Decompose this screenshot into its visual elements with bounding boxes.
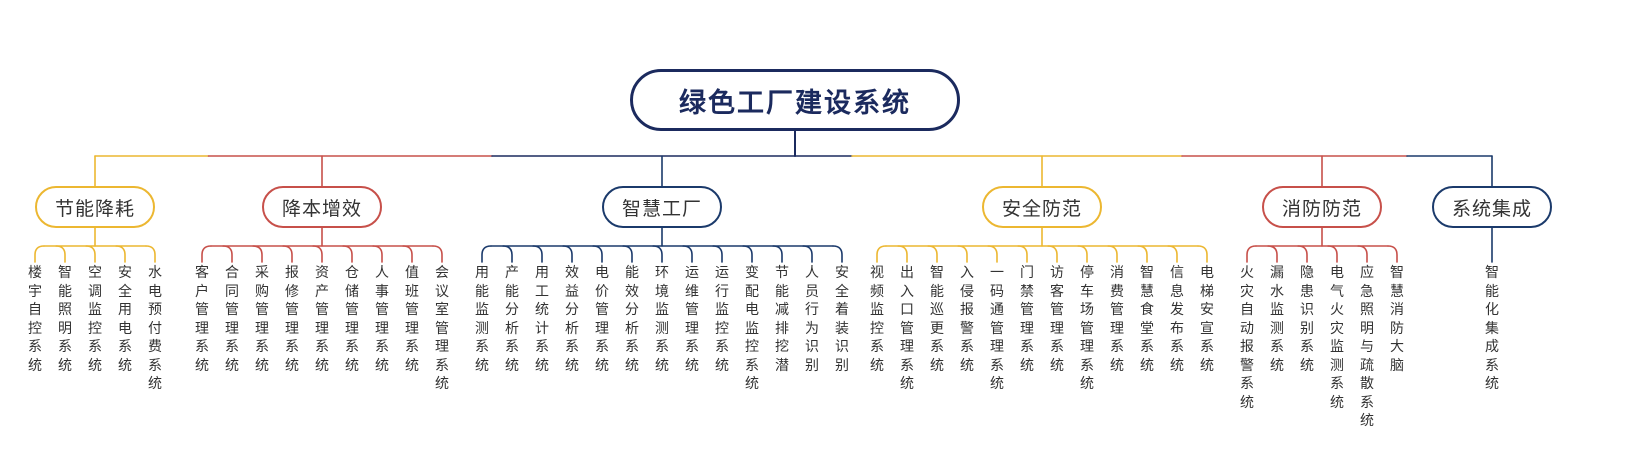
leaf-node[interactable]: 运维管理系统	[683, 264, 701, 375]
branch-node[interactable]: 系统集成	[1432, 186, 1552, 228]
branch-node-label: 智慧工厂	[622, 194, 702, 221]
leaf-node[interactable]: 出入口管理系统	[898, 264, 916, 394]
leaf-node[interactable]: 会议室管理系统	[433, 264, 451, 394]
leaf-node[interactable]: 信息发布系统	[1168, 264, 1186, 375]
leaf-node[interactable]: 水电预付费系统	[146, 264, 164, 394]
branch-node-label: 安全防范	[1002, 194, 1082, 221]
root-node-label: 绿色工厂建设系统	[679, 81, 911, 120]
leaf-node[interactable]: 访客管理系统	[1048, 264, 1066, 375]
leaf-node[interactable]: 人事管理系统	[373, 264, 391, 375]
leaf-node[interactable]: 隐患识别系统	[1298, 264, 1316, 375]
branch-node-label: 系统集成	[1452, 194, 1532, 221]
leaf-node[interactable]: 产能分析系统	[503, 264, 521, 375]
leaf-node[interactable]: 用能监测系统	[473, 264, 491, 375]
leaf-node[interactable]: 智慧消防大脑	[1388, 264, 1406, 375]
leaf-node[interactable]: 安全着装识别	[833, 264, 851, 375]
leaf-node[interactable]: 门禁管理系统	[1018, 264, 1036, 375]
leaf-node[interactable]: 采购管理系统	[253, 264, 271, 375]
leaf-node[interactable]: 用工统计系统	[533, 264, 551, 375]
branch-node[interactable]: 安全防范	[982, 186, 1102, 228]
leaf-node[interactable]: 合同管理系统	[223, 264, 241, 375]
leaf-node[interactable]: 楼宇自控系统	[26, 264, 44, 375]
leaf-node[interactable]: 电气火灾监测系统	[1328, 264, 1346, 412]
leaf-node[interactable]: 入侵报警系统	[958, 264, 976, 375]
leaf-node[interactable]: 消费管理系统	[1108, 264, 1126, 375]
leaf-node[interactable]: 停车场管理系统	[1078, 264, 1096, 394]
root-node[interactable]: 绿色工厂建设系统	[630, 69, 960, 131]
branch-node[interactable]: 智慧工厂	[602, 186, 722, 228]
leaf-node[interactable]: 效益分析系统	[563, 264, 581, 375]
leaf-node[interactable]: 仓储管理系统	[343, 264, 361, 375]
leaf-node[interactable]: 报修管理系统	[283, 264, 301, 375]
leaf-node[interactable]: 一码通管理系统	[988, 264, 1006, 394]
leaf-node[interactable]: 视频监控系统	[868, 264, 886, 375]
leaf-node[interactable]: 值班管理系统	[403, 264, 421, 375]
leaf-node[interactable]: 变配电监控系统	[743, 264, 761, 394]
leaf-node[interactable]: 节能减排挖潜	[773, 264, 791, 375]
leaf-node[interactable]: 电梯安宣系统	[1198, 264, 1216, 375]
branch-node-label: 降本增效	[282, 194, 362, 221]
leaf-node[interactable]: 漏水监测系统	[1268, 264, 1286, 375]
branch-node[interactable]: 节能降耗	[35, 186, 155, 228]
leaf-node[interactable]: 智能化集成系统	[1483, 264, 1501, 394]
leaf-node[interactable]: 电价管理系统	[593, 264, 611, 375]
leaf-node[interactable]: 智能照明系统	[56, 264, 74, 375]
branch-node[interactable]: 消防防范	[1262, 186, 1382, 228]
leaf-node[interactable]: 火灾自动报警系统	[1238, 264, 1256, 412]
connector-lines	[0, 0, 1639, 449]
leaf-node[interactable]: 能效分析系统	[623, 264, 641, 375]
leaf-node[interactable]: 资产管理系统	[313, 264, 331, 375]
branch-node[interactable]: 降本增效	[262, 186, 382, 228]
leaf-node[interactable]: 运行监控系统	[713, 264, 731, 375]
leaf-node[interactable]: 环境监测系统	[653, 264, 671, 375]
leaf-node[interactable]: 智能巡更系统	[928, 264, 946, 375]
leaf-node[interactable]: 客户管理系统	[193, 264, 211, 375]
leaf-node[interactable]: 安全用电系统	[116, 264, 134, 375]
org-chart-diagram: 绿色工厂建设系统节能降耗楼宇自控系统智能照明系统空调监控系统安全用电系统水电预付…	[0, 0, 1639, 449]
leaf-node[interactable]: 人员行为识别	[803, 264, 821, 375]
branch-node-label: 消防防范	[1282, 194, 1362, 221]
leaf-node[interactable]: 应急照明与疏散系统	[1358, 264, 1376, 431]
leaf-node[interactable]: 智慧食堂系统	[1138, 264, 1156, 375]
branch-node-label: 节能降耗	[55, 194, 135, 221]
leaf-node[interactable]: 空调监控系统	[86, 264, 104, 375]
